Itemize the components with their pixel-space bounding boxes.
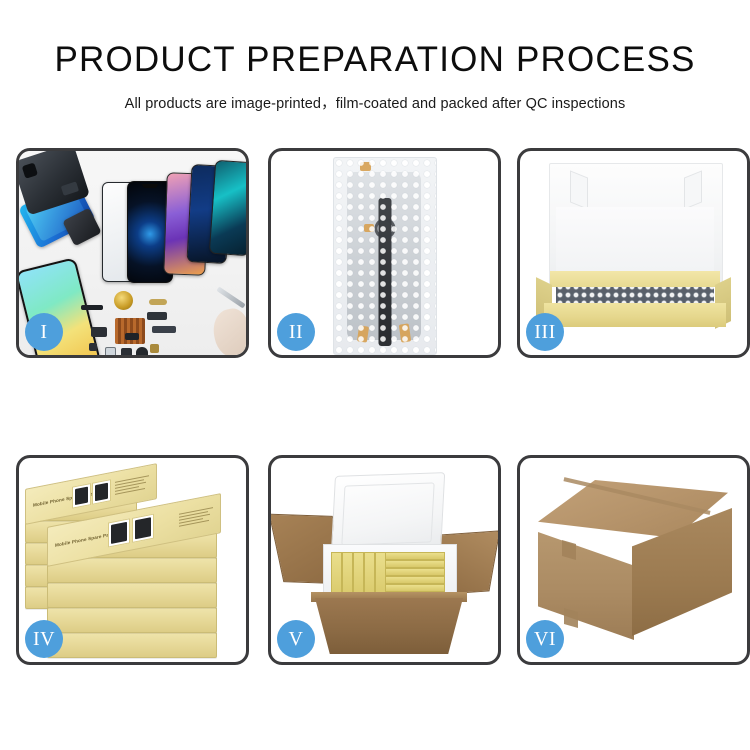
process-step-6[interactable]: VI [517,455,750,665]
bubble-wrap-bag [333,157,437,355]
spare-part [105,347,116,355]
phone-notch [142,184,158,188]
yellow-box [385,560,445,568]
step-badge-3: III [526,313,564,351]
process-step-4[interactable]: Mobile Phone Spare Parts Mobile Phone Sp… [16,455,249,665]
page-subtitle: All products are image-printed，film-coat… [0,79,750,113]
cable-coil [374,218,395,239]
chip-array-component [115,318,145,344]
step-badge-5: V [277,620,315,658]
spare-part [150,344,159,353]
step-badge-1: I [25,313,63,351]
box-tray-front [544,303,726,327]
retail-box [47,632,217,658]
carton-flap-tab [564,608,578,628]
box-spec-lines [179,507,213,529]
retail-box [47,607,217,633]
lid-flap-left [570,170,588,209]
spare-part [125,333,139,340]
phone-screen-swatch [95,483,108,502]
box-window [108,518,130,547]
yellow-box [385,568,445,576]
step-badge-2: II [277,313,315,351]
tape-piece [398,323,410,342]
spare-part [81,305,103,310]
lid-flap-right [684,170,702,209]
phone-screen-swatch [75,487,88,506]
spare-part [89,343,97,351]
phone-screen-swatch [111,522,127,544]
yellow-box [385,552,445,560]
spare-part [147,312,167,320]
process-step-grid: I II [16,148,750,668]
page-header: PRODUCT PREPARATION PROCESS All products… [0,0,750,113]
spare-part [149,299,167,305]
gold-coil-component [114,291,133,310]
yellow-box [385,576,445,584]
tape-piece [356,325,368,342]
spare-part [152,326,176,333]
retail-box [47,582,217,608]
spare-part [121,348,132,355]
process-step-2[interactable]: II [268,148,501,358]
step-badge-4: IV [25,620,63,658]
tape-piece [360,162,371,171]
foam-liner [556,207,714,279]
box-window [72,483,91,509]
page-title: PRODUCT PREPARATION PROCESS [0,0,750,79]
carton-body [315,598,463,654]
teal-wave-screen [209,160,246,257]
packed-yellow-boxes [331,550,447,598]
tape-piece [364,224,374,232]
yellow-box [385,584,445,592]
box-spec-lines [115,475,149,497]
spare-part [91,327,107,337]
step-badge-6: VI [526,620,564,658]
process-step-3[interactable]: III [517,148,750,358]
phone-screen-swatch [135,517,151,539]
process-step-5[interactable]: V [268,455,501,665]
box-window [132,514,154,543]
box-label-text: Mobile Phone Spare Parts [55,531,115,548]
process-step-1[interactable]: I [16,148,249,358]
box-tray-top-edge [550,271,720,287]
spare-part [136,347,148,355]
box-window [92,479,111,505]
